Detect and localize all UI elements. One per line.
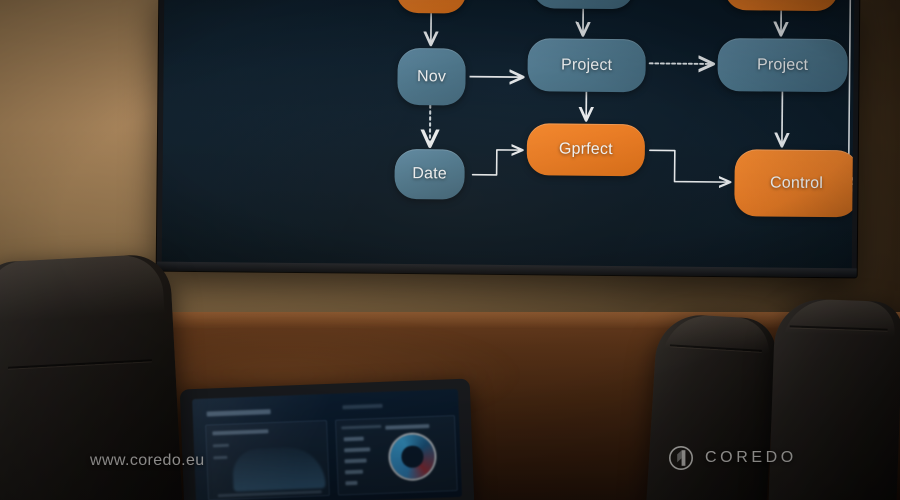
flow-node-top-right[interactable]	[724, 0, 838, 11]
brand-logo: COREDO	[668, 445, 797, 471]
flow-node-date[interactable]: Date	[394, 149, 464, 200]
chair-right-inner	[646, 313, 777, 500]
website-watermark: www.coredo.eu	[90, 452, 205, 470]
brand-name: COREDO	[705, 449, 797, 467]
flow-node-gprfect[interactable]: Gprfect	[527, 123, 645, 176]
laptop	[180, 378, 475, 500]
flow-node-nov[interactable]: Nov	[397, 48, 466, 106]
laptop-screen[interactable]	[192, 389, 462, 500]
flow-node-project-middle[interactable]: Project	[527, 38, 646, 92]
flow-node-control[interactable]: Control	[734, 149, 854, 217]
coredo-emblem-icon	[668, 445, 694, 471]
wall-display: Nov Project Project Date Gprfect Control	[157, 0, 860, 277]
display-screen: Nov Project Project Date Gprfect Control	[162, 0, 855, 268]
boardroom-scene: Nov Project Project Date Gprfect Control	[0, 0, 900, 500]
flow-node-project-right[interactable]: Project	[717, 38, 848, 92]
laptop-screen-glare	[192, 389, 462, 500]
flowchart: Nov Project Project Date Gprfect Control	[162, 0, 855, 268]
